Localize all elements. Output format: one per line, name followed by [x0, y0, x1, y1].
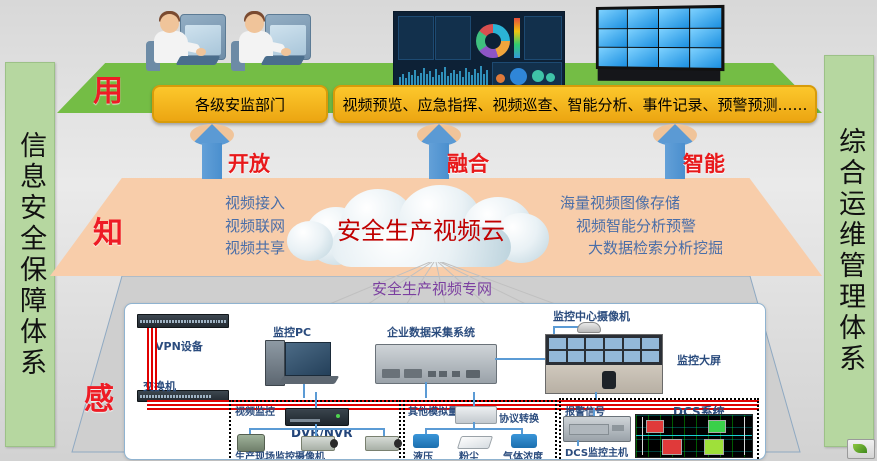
- diagram-canvas: 信息安全保障体系 综合运维管理体系: [0, 0, 877, 461]
- features-button-label: 视频预览、应急指挥、视频巡查、智能分析、事件记录、预警预测……: [342, 94, 807, 115]
- layer-letter-use: 用: [93, 66, 123, 110]
- pc-keyboard-icon: [279, 376, 340, 384]
- cloud-left-item-2: 视频联网: [175, 215, 285, 238]
- bi-dashboard-image: [393, 11, 565, 93]
- group2-title: 其他模拟量: [408, 403, 458, 418]
- cloud-left-item-1: 视频接入: [175, 192, 285, 215]
- left-banner-text: 信息安全保障体系: [15, 131, 45, 379]
- control-room-image: [545, 334, 663, 394]
- layer-letter-sense: 感: [84, 374, 114, 418]
- dome-camera-icon: [577, 322, 601, 333]
- dvr-icon: [285, 408, 349, 426]
- video-wall-grid: [596, 5, 725, 71]
- monitor-pc-label: 监控PC: [273, 324, 311, 340]
- group1-title: 视频监控: [235, 403, 275, 418]
- right-banner-text: 综合运维管理体系: [834, 127, 864, 375]
- right-vertical-banner: 综合运维管理体系: [824, 55, 874, 447]
- layer-letter-know: 知: [93, 208, 123, 252]
- data-collect-label: 企业数据采集系统: [387, 324, 475, 340]
- operators-illustration: [146, 8, 314, 82]
- gas-sensor-icon: [511, 434, 537, 448]
- video-wall-image: [593, 6, 725, 82]
- arrow-converge-label: 融合: [447, 148, 489, 178]
- private-network-label: 安全生产视频专网: [342, 278, 522, 299]
- group1-caption: 生产现场监控摄像机: [235, 448, 325, 460]
- pc-screen-icon: [285, 342, 331, 376]
- protocol-converter-icon: [455, 406, 497, 424]
- group2-device-label: 协议转换: [499, 410, 539, 425]
- group2-sensor-3: 气体浓度: [503, 448, 543, 460]
- arrow-intelligent-label: 智能: [683, 148, 725, 178]
- data-collect-server-icon: [375, 344, 497, 384]
- cloud-title: 安全生产视频云: [287, 211, 555, 246]
- leaf-icon: [853, 444, 867, 453]
- cloud-right-item-1: 海量视频图像存储: [560, 192, 770, 215]
- big-screen-label: 监控大屏: [677, 352, 721, 368]
- cloud-left-item-3: 视频共享: [175, 237, 285, 260]
- arrow-open-label: 开放: [228, 148, 270, 178]
- dept-button[interactable]: 各级安监部门: [152, 85, 328, 123]
- infrastructure-panel: VPN设备 交换机 监控PC 企业数据采集系统: [124, 303, 766, 460]
- features-button[interactable]: 视频预览、应急指挥、视频巡查、智能分析、事件记录、预警预测……: [333, 85, 817, 123]
- cloud-right-item-3: 大数据检索分析挖掘: [560, 237, 770, 260]
- operator-2: [231, 8, 311, 82]
- cloud-left-capabilities: 视频接入 视频联网 视频共享: [175, 192, 285, 260]
- cloud-right-item-2: 视频智能分析预警: [560, 215, 770, 238]
- left-vertical-banner: 信息安全保障体系: [5, 62, 55, 447]
- vpn-label: VPN设备: [155, 338, 203, 354]
- cloud-right-capabilities: 海量视频图像存储 视频智能分析预警 大数据检索分析挖掘: [560, 192, 770, 260]
- group2-sensor-1: 液压: [413, 448, 433, 460]
- vpn-device-icon: [137, 314, 229, 328]
- dcs-host-icon: [563, 416, 631, 442]
- tray-icon[interactable]: [847, 439, 875, 459]
- group2-sensor-2: 粉尘: [459, 448, 479, 460]
- hydraulic-sensor-icon: [413, 434, 439, 448]
- dcs-scada-image: [635, 414, 753, 458]
- bullet-camera-icon-2: [365, 436, 399, 451]
- operator-1: [146, 8, 226, 82]
- dept-button-label: 各级安监部门: [195, 94, 285, 115]
- group3-device-label: DCS监控主机: [565, 444, 628, 459]
